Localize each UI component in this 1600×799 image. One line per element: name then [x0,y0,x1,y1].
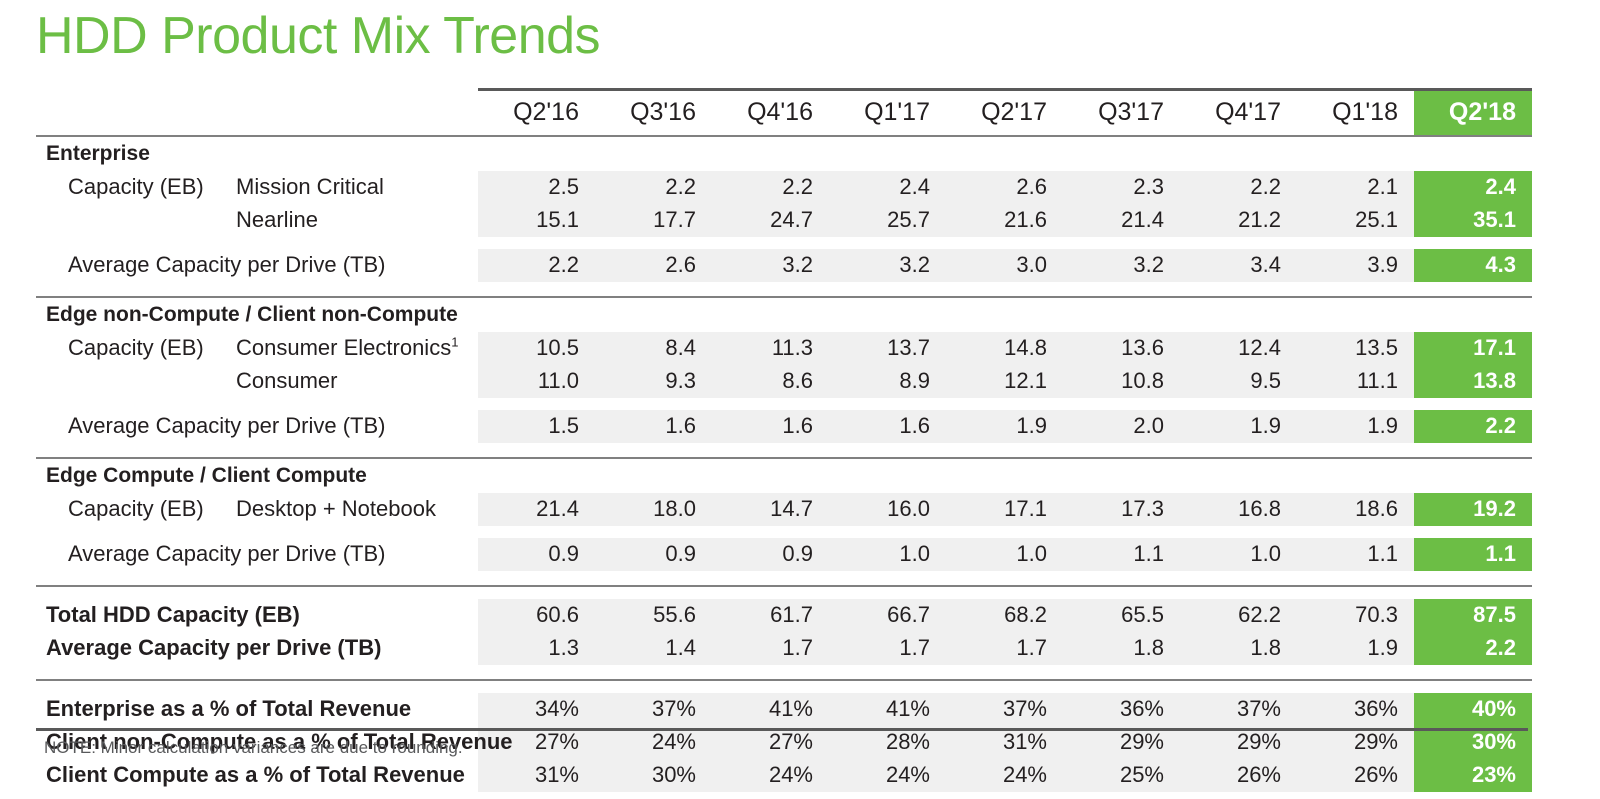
cell-nearline-q2-17: 21.6 [946,204,1063,237]
cell-total-q3-17: 65.5 [1063,599,1180,632]
cell-dn-q1-17: 16.0 [829,493,946,526]
cell-mission-critical-q1-18: 2.1 [1297,171,1414,204]
cell-pct-ent-q2-17: 37% [946,693,1063,726]
cell-mission-critical-q2-17: 2.6 [946,171,1063,204]
column-header-q4-16: Q4'16 [712,90,829,136]
row-label-capacity-eb-edge-noncompute: Capacity (EB) [36,332,236,365]
column-header-q1-17: Q1'17 [829,90,946,136]
row-label-avg-capacity-enterprise: Average Capacity per Drive (TB) [36,249,478,282]
cell-total-q1-17: 66.7 [829,599,946,632]
header-label-spacer-2 [236,90,478,136]
cell-ec-avg-q2-17: 1.0 [946,538,1063,571]
cell-total-q2-17: 68.2 [946,599,1063,632]
column-header-q3-17: Q3'17 [1063,90,1180,136]
table-row-consumer: Consumer 11.0 9.3 8.6 8.9 12.1 10.8 9.5 … [36,365,1532,398]
column-header-q2-18: Q2'18 [1414,90,1532,136]
cell-ec-avg-q4-17: 1.0 [1180,538,1297,571]
cell-dn-q3-16: 18.0 [595,493,712,526]
cell-pct-ent-q4-16: 41% [712,693,829,726]
table-row-edge-noncompute-avg-capacity: Average Capacity per Drive (TB) 1.5 1.6 … [36,410,1532,443]
cell-nearline-q4-17: 21.2 [1180,204,1297,237]
cell-pct-cc-q3-17: 25% [1063,759,1180,792]
cell-totavg-q2-17: 1.7 [946,632,1063,665]
cell-enc-avg-q3-17: 2.0 [1063,410,1180,443]
cell-total-q4-16: 61.7 [712,599,829,632]
cell-pct-ent-q3-16: 37% [595,693,712,726]
cell-total-q4-17: 62.2 [1180,599,1297,632]
table-row-pct-client-compute: Client Compute as a % of Total Revenue 3… [36,759,1532,792]
cell-mission-critical-q3-16: 2.2 [595,171,712,204]
row-label-capacity-eb-edge-compute: Capacity (EB) [36,493,236,526]
cell-dn-q4-16: 14.7 [712,493,829,526]
cell-consumer-q1-18: 11.1 [1297,365,1414,398]
row-label-avg-capacity-edge-noncompute: Average Capacity per Drive (TB) [36,410,478,443]
cell-ec-avg-q1-18: 1.1 [1297,538,1414,571]
cell-totavg-q4-16: 1.7 [712,632,829,665]
cell-ce-q3-16: 8.4 [595,332,712,365]
table-row-enterprise-avg-capacity: Average Capacity per Drive (TB) 2.2 2.6 … [36,249,1532,282]
group-filler-edge-noncompute [478,298,1414,332]
table-row-total-hdd-capacity: Total HDD Capacity (EB) 60.6 55.6 61.7 6… [36,599,1532,632]
row-label-capacity-eb-enterprise: Capacity (EB) [36,171,236,204]
cell-dn-q3-17: 17.3 [1063,493,1180,526]
cell-mission-critical-q1-17: 2.4 [829,171,946,204]
cell-ent-avg-q3-16: 2.6 [595,249,712,282]
group-row-edge-noncompute: Edge non-Compute / Client non-Compute [36,298,1532,332]
cell-ce-q4-17: 12.4 [1180,332,1297,365]
cell-totavg-q2-16: 1.3 [478,632,595,665]
cell-consumer-q2-17: 12.1 [946,365,1063,398]
cell-pct-cc-q3-16: 30% [595,759,712,792]
slide-root: HDD Product Mix Trends Q2'16 Q3'16 Q4'16… [0,0,1600,799]
cell-consumer-q4-16: 8.6 [712,365,829,398]
cell-ent-avg-q2-17: 3.0 [946,249,1063,282]
row-label-pct-client-compute: Client Compute as a % of Total Revenue [36,759,478,792]
product-mix-table: Q2'16 Q3'16 Q4'16 Q1'17 Q2'17 Q3'17 Q4'1… [36,88,1532,792]
cell-enc-avg-q4-16: 1.6 [712,410,829,443]
cell-totavg-q4-17: 1.8 [1180,632,1297,665]
row-label-blank-nearline [36,204,236,237]
cell-enc-avg-q4-17: 1.9 [1180,410,1297,443]
group-label-edge-compute: Edge Compute / Client Compute [36,459,478,493]
cell-pct-cc-q2-18: 23% [1414,759,1532,792]
row-sublabel-consumer: Consumer [236,365,478,398]
pad-before-totals [36,587,1532,599]
table-row-nearline: Nearline 15.1 17.7 24.7 25.7 21.6 21.4 2… [36,204,1532,237]
cell-pct-cc-q4-16: 24% [712,759,829,792]
header-label-spacer-1 [36,90,236,136]
pad-after-edge-compute [36,571,1532,586]
group-row-edge-compute: Edge Compute / Client Compute [36,459,1532,493]
table-row-mission-critical: Capacity (EB) Mission Critical 2.5 2.2 2… [36,171,1532,204]
cell-ce-q4-16: 11.3 [712,332,829,365]
group-filler-edge-noncompute-hl [1414,298,1532,332]
cell-total-q1-18: 70.3 [1297,599,1414,632]
cell-consumer-q3-16: 9.3 [595,365,712,398]
cell-ec-avg-q3-17: 1.1 [1063,538,1180,571]
cell-total-q2-16: 60.6 [478,599,595,632]
cell-pct-cc-q2-17: 24% [946,759,1063,792]
page-title: HDD Product Mix Trends [36,2,600,70]
cell-total-q3-16: 55.6 [595,599,712,632]
cell-ent-avg-q3-17: 3.2 [1063,249,1180,282]
table-row-desktop-notebook: Capacity (EB) Desktop + Notebook 21.4 18… [36,493,1532,526]
cell-nearline-q2-16: 15.1 [478,204,595,237]
cell-totavg-q1-18: 1.9 [1297,632,1414,665]
cell-ent-avg-q1-17: 3.2 [829,249,946,282]
cell-pct-cc-q1-17: 24% [829,759,946,792]
cell-enc-avg-q3-16: 1.6 [595,410,712,443]
row-sublabel-nearline: Nearline [236,204,478,237]
row-label-total-avg-capacity: Average Capacity per Drive (TB) [36,632,478,665]
cell-ec-avg-q3-16: 0.9 [595,538,712,571]
group-label-enterprise: Enterprise [36,137,478,171]
cell-nearline-q1-18: 25.1 [1297,204,1414,237]
group-row-enterprise: Enterprise [36,137,1532,171]
footer-rule [36,728,1528,731]
spacer-edge-compute [36,526,1532,538]
cell-enc-avg-q2-16: 1.5 [478,410,595,443]
cell-nearline-q2-18: 35.1 [1414,204,1532,237]
cell-pct-cc-q4-17: 26% [1180,759,1297,792]
row-label-blank-consumer [36,365,236,398]
row-sublabel-desktop-notebook: Desktop + Notebook [236,493,478,526]
cell-enc-avg-q2-18: 2.2 [1414,410,1532,443]
cell-mission-critical-q3-17: 2.3 [1063,171,1180,204]
row-sublabel-mission-critical: Mission Critical [236,171,478,204]
cell-pct-ent-q1-17: 41% [829,693,946,726]
cell-ent-avg-q1-18: 3.9 [1297,249,1414,282]
cell-ec-avg-q2-16: 0.9 [478,538,595,571]
cell-dn-q2-17: 17.1 [946,493,1063,526]
consumer-electronics-text: Consumer Electronics [236,335,451,360]
cell-ent-avg-q4-16: 3.2 [712,249,829,282]
cell-dn-q1-18: 18.6 [1297,493,1414,526]
cell-dn-q2-18: 19.2 [1414,493,1532,526]
table-row-consumer-electronics: Capacity (EB) Consumer Electronics1 10.5… [36,332,1532,365]
column-header-q4-17: Q4'17 [1180,90,1297,136]
cell-ec-avg-q1-17: 1.0 [829,538,946,571]
footnote-marker-1: 1 [451,335,458,350]
footnote-note: NOTE: Minor calculation variances are du… [44,738,463,758]
cell-enc-avg-q1-17: 1.6 [829,410,946,443]
column-header-q2-16: Q2'16 [478,90,595,136]
cell-pct-cc-q1-18: 26% [1297,759,1414,792]
cell-totavg-q1-17: 1.7 [829,632,946,665]
column-header-q2-17: Q2'17 [946,90,1063,136]
row-label-pct-enterprise: Enterprise as a % of Total Revenue [36,693,478,726]
cell-ec-avg-q2-18: 1.1 [1414,538,1532,571]
column-header-q3-16: Q3'16 [595,90,712,136]
cell-enc-avg-q2-17: 1.9 [946,410,1063,443]
cell-pct-ent-q3-17: 36% [1063,693,1180,726]
table-row-total-avg-capacity: Average Capacity per Drive (TB) 1.3 1.4 … [36,632,1532,665]
cell-mission-critical-q4-16: 2.2 [712,171,829,204]
product-mix-table-wrap: Q2'16 Q3'16 Q4'16 Q1'17 Q2'17 Q3'17 Q4'1… [36,88,1528,792]
cell-pct-ent-q2-18: 40% [1414,693,1532,726]
cell-mission-critical-q4-17: 2.2 [1180,171,1297,204]
cell-nearline-q3-16: 17.7 [595,204,712,237]
pad-before-percentages [36,681,1532,693]
cell-ec-avg-q4-16: 0.9 [712,538,829,571]
cell-ce-q1-18: 13.5 [1297,332,1414,365]
table-row-edge-compute-avg-capacity: Average Capacity per Drive (TB) 0.9 0.9 … [36,538,1532,571]
cell-pct-ent-q2-16: 34% [478,693,595,726]
cell-ce-q3-17: 13.6 [1063,332,1180,365]
column-header-q1-18: Q1'18 [1297,90,1414,136]
cell-consumer-q4-17: 9.5 [1180,365,1297,398]
group-filler-enterprise [478,137,1414,171]
cell-consumer-q2-16: 11.0 [478,365,595,398]
cell-dn-q4-17: 16.8 [1180,493,1297,526]
cell-totavg-q3-16: 1.4 [595,632,712,665]
cell-pct-cc-q2-16: 31% [478,759,595,792]
cell-dn-q2-16: 21.4 [478,493,595,526]
group-filler-edge-compute [478,459,1414,493]
spacer-enterprise [36,237,1532,249]
cell-ce-q1-17: 13.7 [829,332,946,365]
cell-enc-avg-q1-18: 1.9 [1297,410,1414,443]
cell-ce-q2-18: 17.1 [1414,332,1532,365]
cell-nearline-q4-16: 24.7 [712,204,829,237]
pad-after-totals [36,665,1532,680]
group-filler-enterprise-hl [1414,137,1532,171]
table-row-pct-enterprise: Enterprise as a % of Total Revenue 34% 3… [36,693,1532,726]
cell-consumer-q1-17: 8.9 [829,365,946,398]
cell-ce-q2-17: 14.8 [946,332,1063,365]
pad-after-edge-noncompute [36,443,1532,458]
cell-consumer-q2-18: 13.8 [1414,365,1532,398]
cell-ce-q2-16: 10.5 [478,332,595,365]
row-sublabel-consumer-electronics: Consumer Electronics1 [236,332,478,365]
cell-pct-ent-q1-18: 36% [1297,693,1414,726]
row-label-total-hdd-capacity: Total HDD Capacity (EB) [36,599,478,632]
cell-totavg-q3-17: 1.8 [1063,632,1180,665]
cell-nearline-q3-17: 21.4 [1063,204,1180,237]
cell-ent-avg-q2-18: 4.3 [1414,249,1532,282]
group-label-edge-noncompute: Edge non-Compute / Client non-Compute [36,298,478,332]
row-label-avg-capacity-edge-compute: Average Capacity per Drive (TB) [36,538,478,571]
cell-mission-critical-q2-18: 2.4 [1414,171,1532,204]
cell-nearline-q1-17: 25.7 [829,204,946,237]
spacer-edge-noncompute [36,398,1532,410]
cell-consumer-q3-17: 10.8 [1063,365,1180,398]
table-header-row: Q2'16 Q3'16 Q4'16 Q1'17 Q2'17 Q3'17 Q4'1… [36,90,1532,136]
cell-pct-ent-q4-17: 37% [1180,693,1297,726]
cell-ent-avg-q4-17: 3.4 [1180,249,1297,282]
cell-mission-critical-q2-16: 2.5 [478,171,595,204]
cell-ent-avg-q2-16: 2.2 [478,249,595,282]
pad-after-enterprise [36,282,1532,297]
group-filler-edge-compute-hl [1414,459,1532,493]
cell-total-q2-18: 87.5 [1414,599,1532,632]
cell-totavg-q2-18: 2.2 [1414,632,1532,665]
